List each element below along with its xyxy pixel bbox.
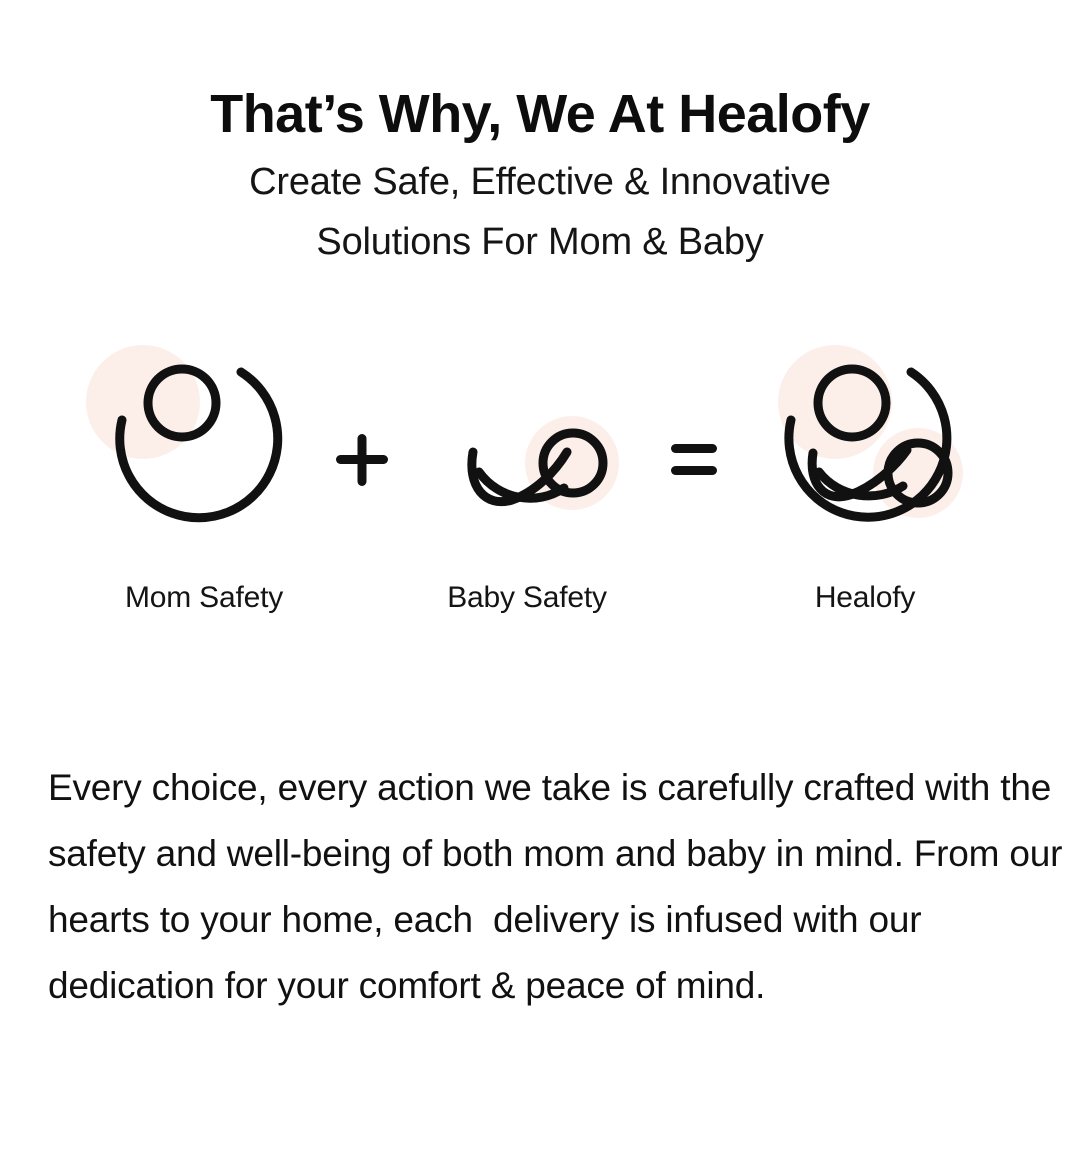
baby-safety-icon <box>407 340 647 570</box>
promo-page: That’s Why, We At Healofy Create Safe, E… <box>0 0 1080 1167</box>
page-subtitle-line-2: Solutions For Mom & Baby <box>0 212 1080 272</box>
mom-safety-icon <box>84 340 324 570</box>
page-title: That’s Why, We At Healofy <box>0 83 1080 145</box>
body-paragraph: Every choice, every action we take is ca… <box>48 755 1078 1019</box>
equation-label-baby-safety: Baby Safety <box>407 580 647 616</box>
plus-icon <box>330 340 400 570</box>
page-subtitle-line-1: Create Safe, Effective & Innovative <box>0 152 1080 212</box>
equals-icon <box>662 340 732 570</box>
equation-item-healofy: Healofy <box>745 340 985 630</box>
equation-item-mom-safety: Mom Safety <box>84 340 324 630</box>
equation-label-mom-safety: Mom Safety <box>84 580 324 616</box>
equation-item-baby-safety: Baby Safety <box>407 340 647 630</box>
equation-label-healofy: Healofy <box>745 580 985 616</box>
healofy-icon <box>745 340 985 570</box>
page-subtitle: Create Safe, Effective & Innovative Solu… <box>0 152 1080 272</box>
safety-equation: Mom Safety Baby Safety <box>0 340 1080 630</box>
plus-operator <box>330 340 400 630</box>
equals-operator <box>662 340 732 630</box>
